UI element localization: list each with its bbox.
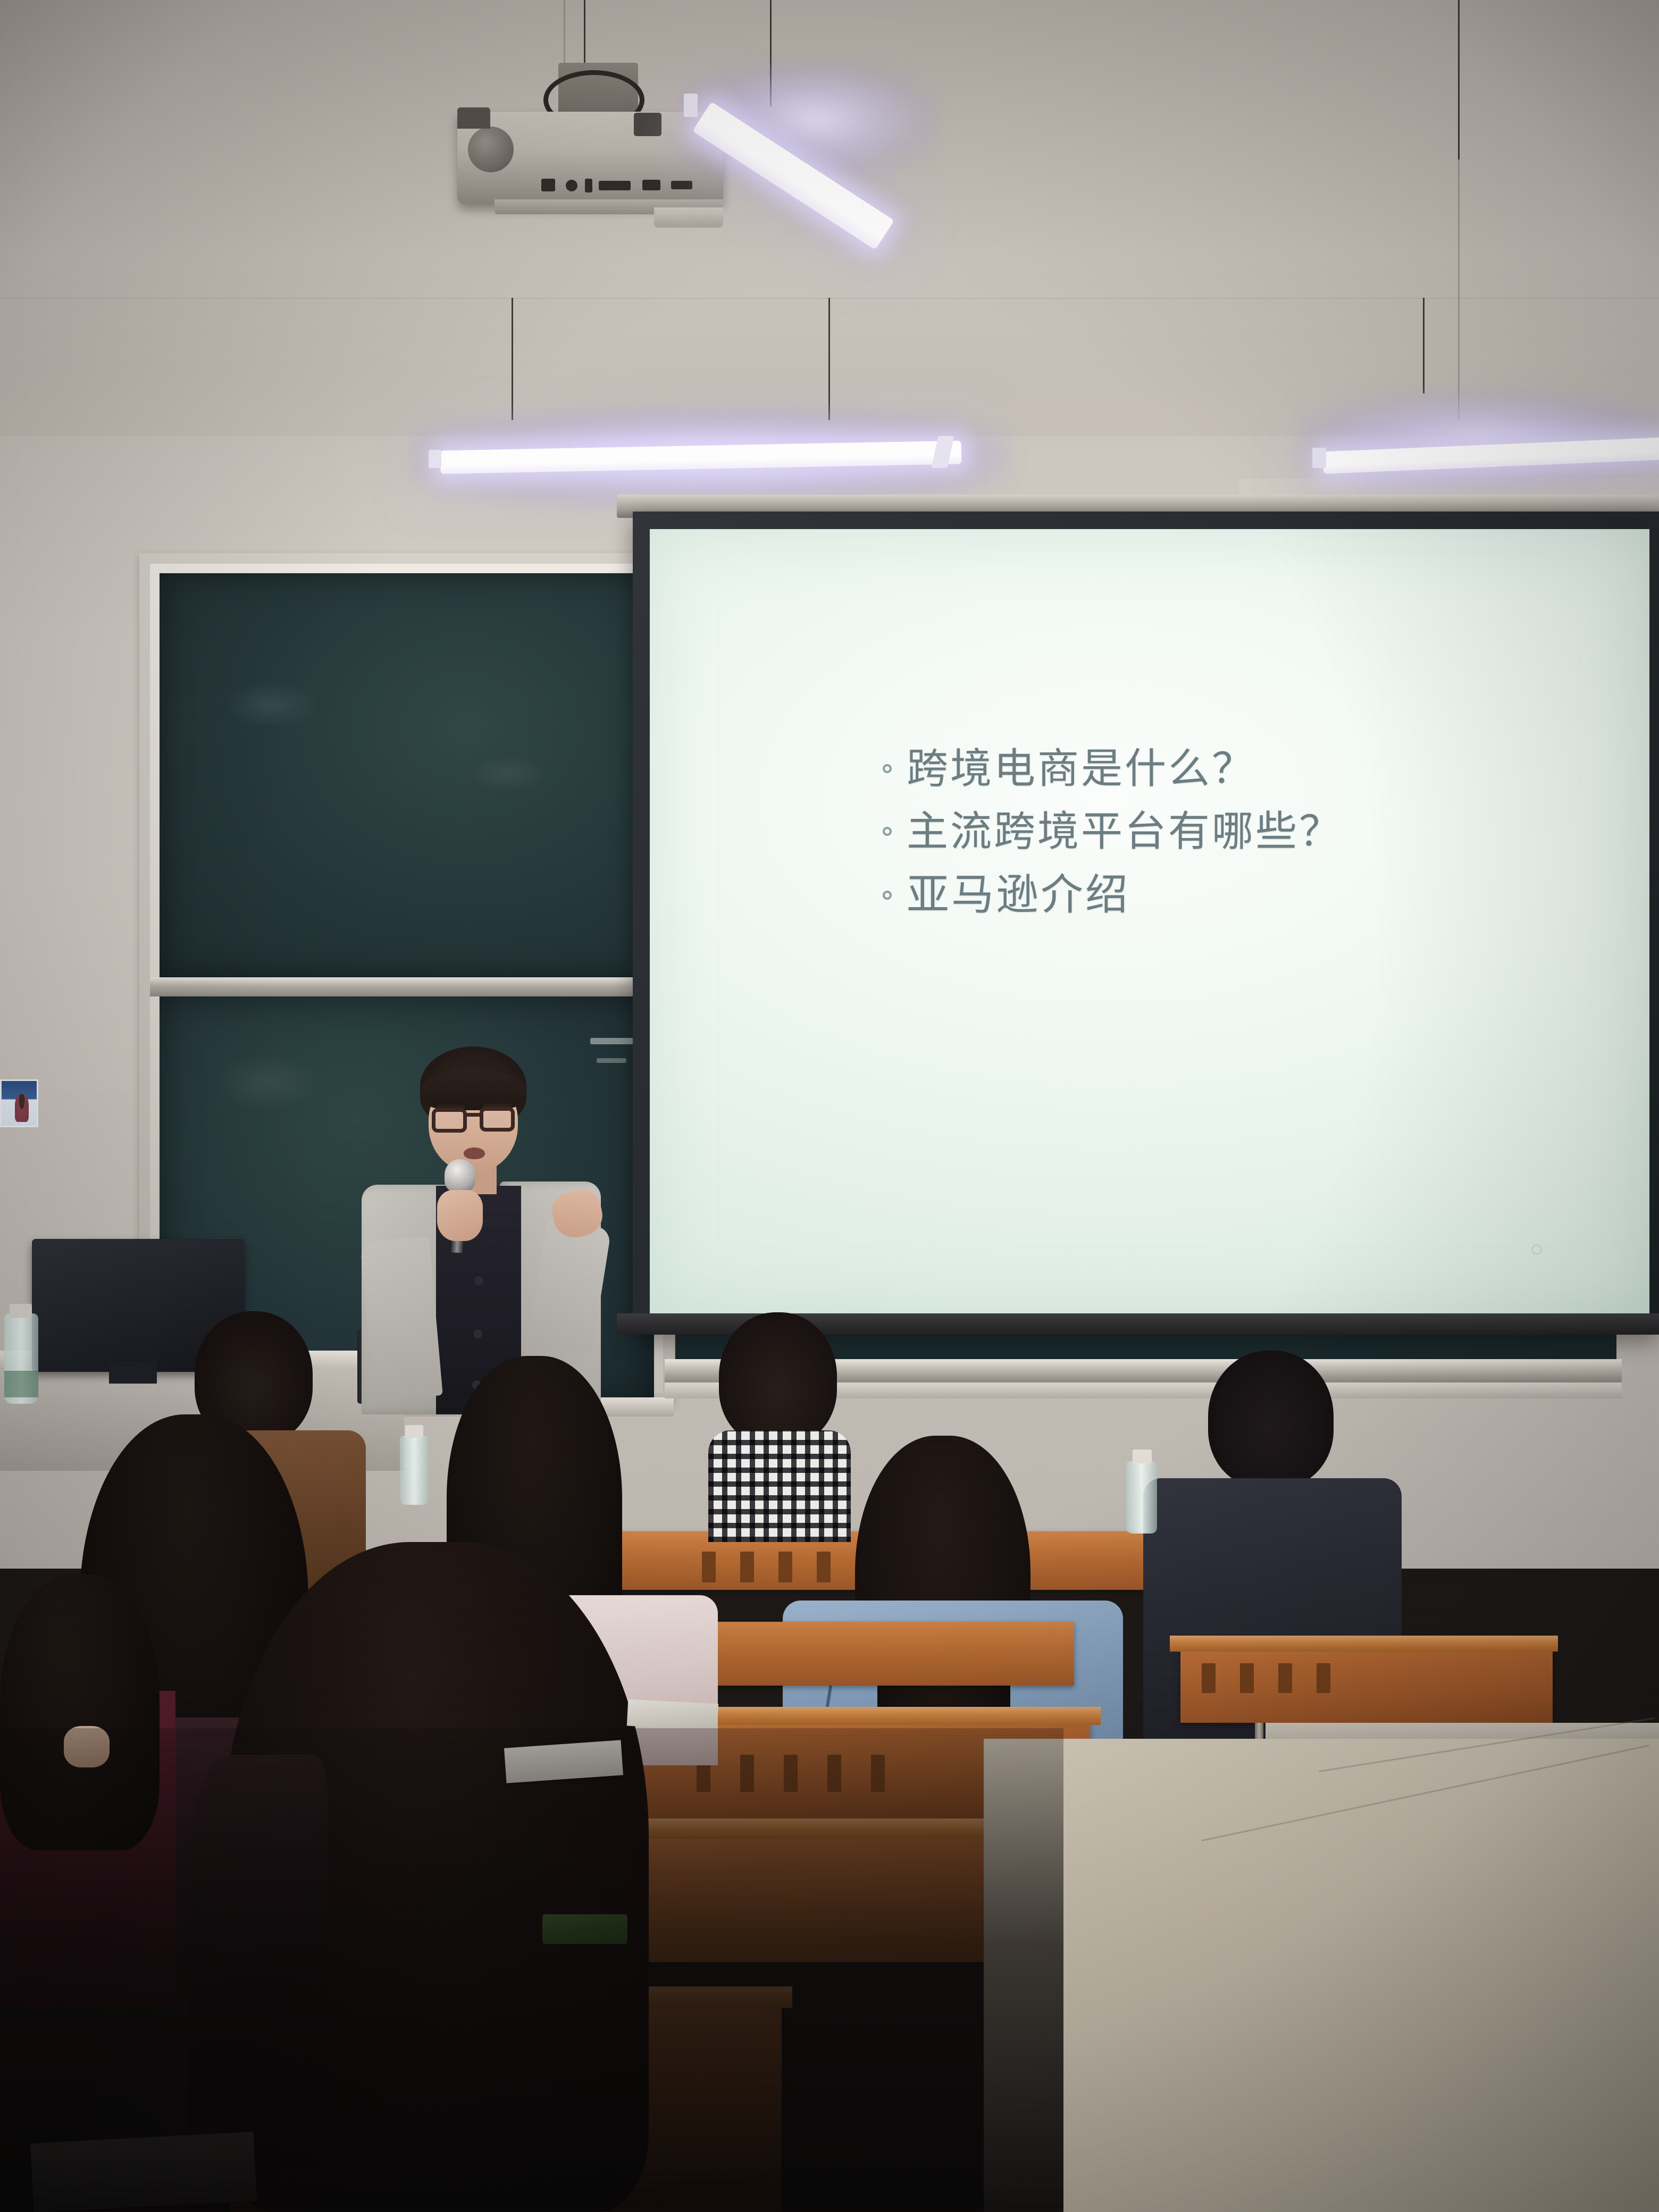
projector-port xyxy=(642,180,660,190)
water-bottle xyxy=(1126,1461,1157,1534)
projector-port xyxy=(671,181,692,189)
chalk-smudge xyxy=(223,681,319,728)
projector-port xyxy=(585,179,592,192)
projector-connector xyxy=(634,113,661,136)
bench-slat xyxy=(871,1755,885,1792)
slide-bullet-item: 主流跨境平台有哪些？ xyxy=(883,807,1521,856)
jacket-button xyxy=(473,1329,482,1338)
bottle-cap xyxy=(10,1304,32,1318)
student-hand xyxy=(64,1726,110,1767)
light-hanger-wire xyxy=(1423,298,1425,393)
light-hanger-wire xyxy=(828,298,830,420)
slide-bullet-text: 亚马逊介绍 xyxy=(907,870,1130,920)
wall-poster-figure xyxy=(15,1094,29,1122)
screen-mark xyxy=(1531,1244,1542,1255)
bench-slat xyxy=(827,1755,841,1792)
bench-slat xyxy=(778,1552,792,1582)
projector-port xyxy=(599,181,631,190)
student-head xyxy=(719,1312,837,1445)
chalk-smudge xyxy=(213,1053,319,1111)
student-plaid-shirt xyxy=(708,1430,851,1542)
projector-foot xyxy=(654,207,723,228)
bottle-cap xyxy=(1133,1449,1152,1463)
projector-hanger-wire xyxy=(584,0,585,64)
bottle-label xyxy=(4,1371,38,1397)
bench-slat xyxy=(740,1552,754,1582)
presenter-arm-left xyxy=(360,1236,443,1401)
chalk-smudge xyxy=(468,755,548,792)
monitor-stand xyxy=(109,1361,157,1384)
projector-lens-icon xyxy=(468,127,514,172)
paper-sheet xyxy=(627,1699,718,1731)
desk-item xyxy=(542,1914,627,1944)
student-head xyxy=(1208,1351,1334,1488)
student-shoulder xyxy=(189,1755,328,2127)
slide-bullet-item: 跨境电商是什么？ xyxy=(883,744,1521,793)
bench-slat xyxy=(702,1552,716,1582)
light-end-cap xyxy=(429,450,441,468)
student-desk xyxy=(1180,1643,1553,1723)
water-bottle xyxy=(400,1436,429,1505)
jacket-button xyxy=(474,1276,483,1285)
bullet-point-icon xyxy=(883,764,892,773)
open-notebook xyxy=(30,2132,257,2212)
floor xyxy=(984,1739,1659,2212)
bench-slat xyxy=(740,1755,754,1792)
slide-bullet-list: 跨境电商是什么？ 主流跨境平台有哪些？ 亚马逊介绍 xyxy=(883,744,1521,934)
light-hanger-wire xyxy=(512,298,513,420)
bullet-point-icon xyxy=(883,891,892,900)
bench-slat xyxy=(1240,1663,1254,1693)
bottle-cap xyxy=(405,1425,423,1438)
bench-slat xyxy=(1202,1663,1216,1693)
blackboard-center-rail xyxy=(150,977,663,996)
bullet-point-icon xyxy=(883,827,892,836)
projector-port xyxy=(566,180,577,191)
light-glow xyxy=(1297,388,1659,489)
eyeglasses-bridge xyxy=(467,1113,481,1117)
presenter-mouth xyxy=(464,1147,485,1159)
slide-bullet-text: 主流跨境平台有哪些？ xyxy=(907,807,1343,856)
light-end-cap xyxy=(1312,448,1326,468)
student-long-hair xyxy=(0,1574,160,1850)
slide-bullet-text: 跨境电商是什么？ xyxy=(907,744,1255,793)
bench-slat xyxy=(1317,1663,1330,1693)
chalk-mark xyxy=(597,1058,626,1063)
eyeglasses-lens-right xyxy=(480,1107,515,1132)
projector-top-knob xyxy=(457,107,490,129)
microphone-icon xyxy=(445,1159,475,1192)
projector-port xyxy=(541,179,555,191)
bench-slat xyxy=(1278,1663,1292,1693)
slide-bullet-item: 亚马逊介绍 xyxy=(883,870,1521,920)
presenter-hand-holding-mic xyxy=(437,1190,483,1241)
blackboard-upper-panel xyxy=(160,573,654,977)
bench-slat xyxy=(784,1755,798,1792)
eyeglasses-lens-left xyxy=(432,1108,467,1133)
desk-surface xyxy=(1170,1636,1558,1652)
classroom-photo: 跨境电商是什么？ 主流跨境平台有哪些？ 亚马逊介绍 xyxy=(0,0,1659,2212)
light-hanger-wire xyxy=(1458,0,1460,160)
bench-slat xyxy=(817,1552,831,1582)
light-end-cap xyxy=(684,94,698,117)
